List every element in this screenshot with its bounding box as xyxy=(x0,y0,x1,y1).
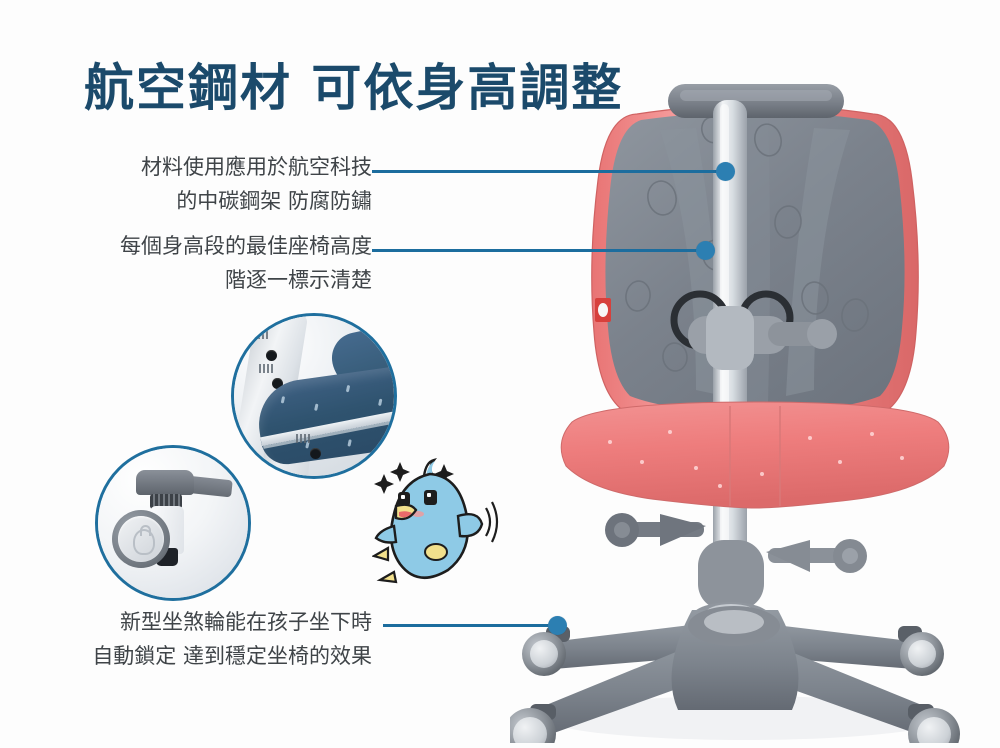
inset-height-scale-mark-1 xyxy=(254,330,268,339)
blue-bird-mascot xyxy=(372,452,502,592)
leader-line-height-marks xyxy=(372,249,708,252)
caster-back-left xyxy=(522,626,570,676)
inset-height-hole-3 xyxy=(310,448,321,459)
infographic-canvas: 航空鋼材 可依身高調整 xyxy=(0,0,1000,743)
mascot-right-wing xyxy=(458,514,482,536)
inset-height-scale-mark-3 xyxy=(296,434,310,443)
leader-dot-steel-frame xyxy=(716,162,735,181)
callout-caster-line2: 自動鎖定 達到穩定坐椅的效果 xyxy=(0,639,372,673)
inset-caster-hub xyxy=(118,516,164,562)
mascot-feet xyxy=(374,548,396,582)
mascot-svg xyxy=(372,452,502,592)
leader-dot-height-marks xyxy=(696,241,715,260)
callout-steel-frame-line2: 的中碳鋼架 防腐防鏽 xyxy=(0,184,372,218)
callout-caster-line1: 新型坐煞輪能在孩子坐下時 xyxy=(0,605,372,639)
leader-dot-caster xyxy=(548,616,567,635)
inset-height-hole-1 xyxy=(266,350,277,361)
inset-caster-photo[interactable] xyxy=(95,445,251,601)
callout-height-marks-line1: 每個身高段的最佳座椅高度 xyxy=(0,229,372,263)
caster-front-left xyxy=(510,704,556,743)
inset-height-scale-mark-2 xyxy=(259,364,273,373)
bird-logo-icon xyxy=(133,529,155,555)
callout-height-marks-line2: 階逐一標示清楚 xyxy=(0,263,372,297)
backrest-label-tag xyxy=(595,298,611,322)
mascot-left-wing xyxy=(376,526,396,543)
leader-line-caster xyxy=(383,624,558,627)
backrest-handle-highlight xyxy=(680,90,832,101)
caster-back-right xyxy=(898,626,944,676)
inset-caster-top-cap xyxy=(136,470,194,495)
callout-height-marks: 每個身高段的最佳座椅高度 階逐一標示清楚 xyxy=(0,229,372,297)
gas-lift-collar xyxy=(698,540,764,610)
height-adjust-knob-right[interactable] xyxy=(766,539,867,573)
mascot-wave-motion-lines xyxy=(486,502,497,542)
seat-cushion xyxy=(561,402,949,508)
callout-self-lock-caster: 新型坐煞輪能在孩子坐下時 自動鎖定 達到穩定坐椅的效果 xyxy=(0,605,372,673)
callout-steel-frame-line1: 材料使用應用於航空科技 xyxy=(0,150,372,184)
mascot-belly-mark xyxy=(425,544,447,560)
seat-depth-knob-left[interactable] xyxy=(605,513,706,547)
mascot-body xyxy=(391,474,468,578)
caster-front-right xyxy=(908,704,960,743)
inset-caster-wheel xyxy=(112,510,170,568)
leader-line-steel-frame xyxy=(372,170,728,173)
callout-steel-frame: 材料使用應用於航空科技 的中碳鋼架 防腐防鏽 xyxy=(0,150,372,218)
inset-height-seat-piping xyxy=(260,397,397,446)
